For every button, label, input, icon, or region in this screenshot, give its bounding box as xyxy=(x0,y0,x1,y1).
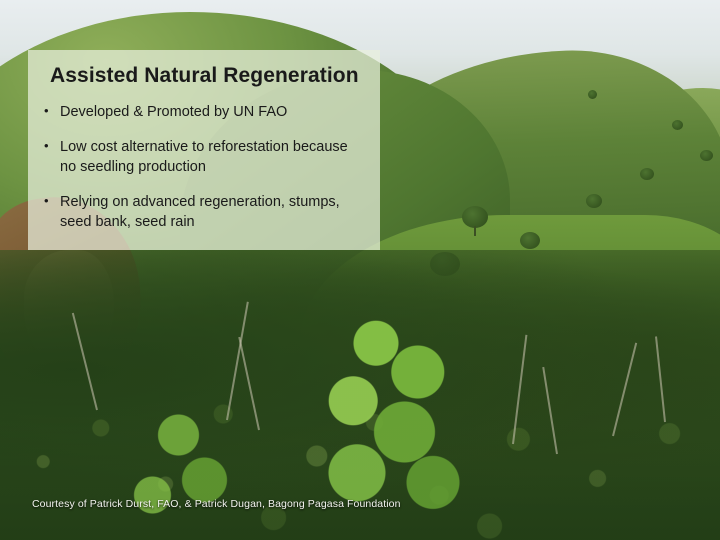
slope-tree xyxy=(462,206,488,228)
bullet-marker-icon: • xyxy=(44,192,60,211)
bullet-item: • Low cost alternative to reforestation … xyxy=(44,137,364,177)
ridge-tree xyxy=(588,90,597,99)
text-panel: Assisted Natural Regeneration • Develope… xyxy=(28,50,380,250)
bullet-item: • Relying on advanced regeneration, stum… xyxy=(44,192,364,232)
bullet-item: • Developed & Promoted by UN FAO xyxy=(44,102,364,122)
slope-tree-trunk xyxy=(474,226,476,236)
foreground-leafy-bush-secondary xyxy=(120,390,250,540)
slope-tree xyxy=(586,194,602,208)
bullet-text: Relying on advanced regeneration, stumps… xyxy=(60,192,364,232)
slide-title: Assisted Natural Regeneration xyxy=(50,64,364,88)
bullet-text: Low cost alternative to reforestation be… xyxy=(60,137,364,177)
ridge-tree xyxy=(700,150,713,161)
bullet-marker-icon: • xyxy=(44,137,60,156)
ridge-tree xyxy=(672,120,683,130)
bullet-list: • Developed & Promoted by UN FAO • Low c… xyxy=(44,102,364,232)
slope-tree xyxy=(640,168,654,180)
bullet-marker-icon: • xyxy=(44,102,60,121)
slide: Assisted Natural Regeneration • Develope… xyxy=(0,0,720,540)
photo-credit: Courtesy of Patrick Durst, FAO, & Patric… xyxy=(32,498,401,510)
slope-tree xyxy=(520,232,540,249)
bullet-text: Developed & Promoted by UN FAO xyxy=(60,102,364,122)
